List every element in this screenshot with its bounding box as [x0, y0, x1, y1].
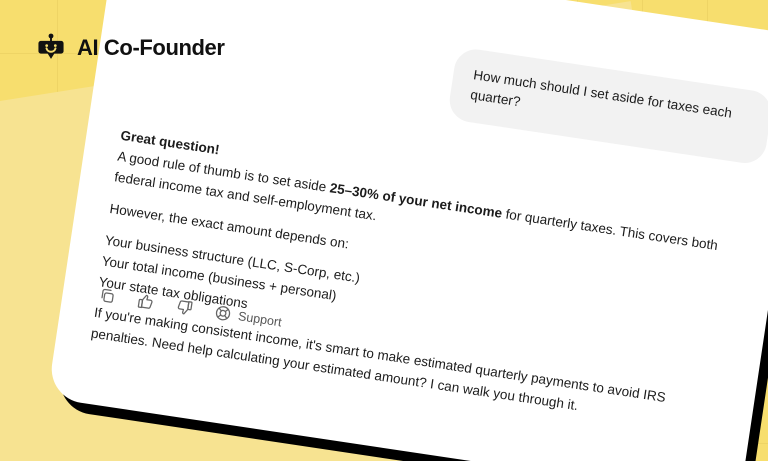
chat-card: How much should I set aside for taxes ea… [47, 0, 768, 461]
copy-icon[interactable] [98, 286, 117, 305]
thumbs-down-icon[interactable] [175, 298, 194, 317]
user-message-bubble: How much should I set aside for taxes ea… [447, 46, 768, 165]
thumbs-up-icon[interactable] [136, 292, 155, 311]
chat-card-container: How much should I set aside for taxes ea… [47, 0, 768, 461]
lifebuoy-icon [213, 304, 232, 323]
assistant-message: Great question!A good rule of thumb is t… [88, 126, 736, 447]
screenshot-canvas: How much should I set aside for taxes ea… [0, 0, 768, 461]
brand-name: AI Co-Founder [77, 35, 225, 61]
robot-head-icon [36, 33, 66, 63]
brand-lockup: AI Co-Founder [36, 33, 225, 63]
user-message-row: How much should I set aside for taxes ea… [437, 45, 768, 165]
